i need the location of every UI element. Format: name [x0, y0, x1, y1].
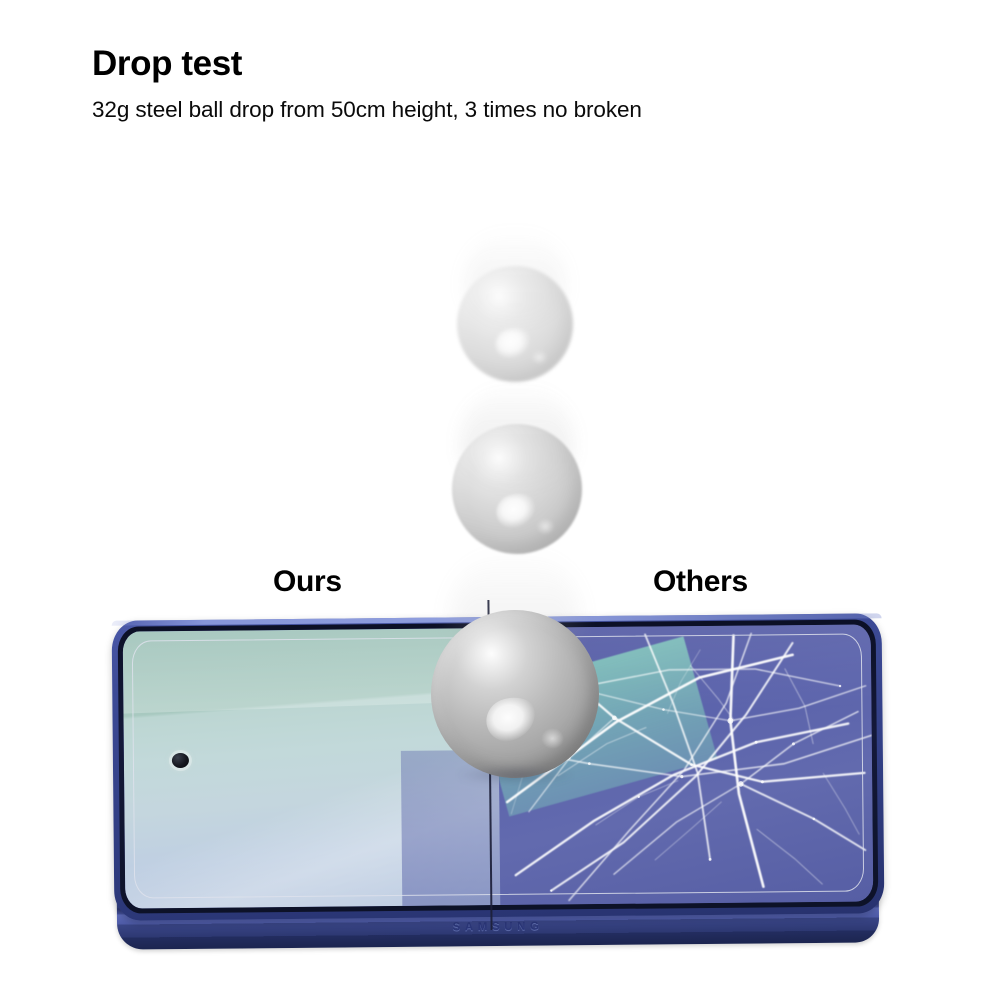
ball-highlight	[481, 692, 541, 746]
label-others: Others	[653, 565, 748, 599]
samsung-brand-mark: SAMSUNG	[453, 921, 544, 934]
steel-ball-top	[440, 228, 590, 388]
label-ours: Ours	[273, 565, 342, 599]
ball-highlight	[492, 489, 540, 532]
front-camera-punch-hole	[172, 753, 189, 768]
ball-secondary-highlight	[541, 728, 564, 749]
steel-ball-bottom	[422, 548, 608, 780]
ball-secondary-highlight	[531, 350, 548, 365]
steel-ball-middle	[434, 382, 600, 560]
ball-highlight	[492, 324, 535, 363]
ball-secondary-highlight	[536, 518, 555, 535]
ball-body	[431, 610, 599, 778]
ball-body	[452, 424, 582, 554]
ball-body	[457, 266, 573, 382]
ball-contact-shadow	[455, 766, 575, 784]
drop-test-infographic: Drop test 32g steel ball drop from 50cm …	[0, 0, 1000, 1000]
